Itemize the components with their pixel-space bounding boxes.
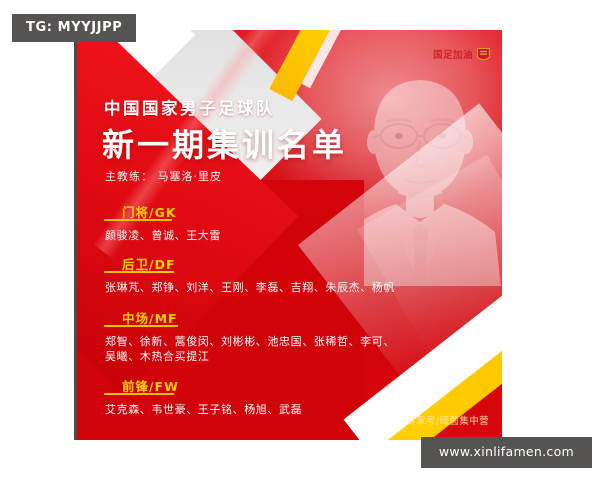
cfa-crest-icon bbox=[477, 48, 490, 63]
group-df-rule bbox=[104, 271, 174, 273]
group-mf: 中场/MF 郑智、徐新、蒿俊闵、刘彬彬、池忠国、张稀哲、李可、 吴曦、木热合买提… bbox=[102, 308, 432, 364]
group-fw-rule bbox=[104, 393, 174, 395]
group-mf-players-line1: 郑智、徐新、蒿俊闵、刘彬彬、池忠国、张稀哲、李可、 bbox=[102, 334, 432, 349]
group-fw-players: 艾克森、韦世豪、王子铭、杨旭、武磊 bbox=[102, 402, 432, 417]
group-mf-players-line2: 吴曦、木热合买提江 bbox=[102, 349, 432, 364]
page-title: 新一期集训名单 bbox=[102, 120, 347, 166]
tg-watermark-tag: TG: MYYJJPP bbox=[12, 14, 136, 42]
group-df-players: 张琳芃、郑铮、刘洋、王刚、李磊、吉翔、朱辰杰、杨帆 bbox=[102, 280, 432, 295]
poster-card: 国足加油 中国国家男子足球队 新一期集训名单 主教练： 马塞洛·里皮 门将/GK… bbox=[74, 30, 502, 440]
team-name: 中国国家男子足球队 bbox=[104, 95, 275, 119]
cfa-badge: 国足加油 bbox=[433, 48, 490, 63]
cfa-badge-label: 国足加油 bbox=[433, 51, 473, 61]
group-gk-rule bbox=[104, 219, 172, 221]
group-fw: 前锋/FW 艾克森、韦世豪、王子铭、杨旭、武磊 bbox=[102, 376, 432, 417]
group-mf-rule bbox=[104, 325, 178, 327]
card-left-edge bbox=[74, 30, 77, 440]
site-watermark: www.xinlifamen.com bbox=[421, 437, 592, 469]
credit-line: 百家号/绿茵集中营 bbox=[406, 413, 489, 427]
coach-line: 主教练： 马塞洛·里皮 bbox=[105, 168, 222, 184]
poster-content: 中国国家男子足球队 新一期集训名单 主教练： 马塞洛·里皮 门将/GK 颜骏凌、… bbox=[102, 30, 432, 440]
group-df: 后卫/DF 张琳芃、郑铮、刘洋、王刚、李磊、吉翔、朱辰杰、杨帆 bbox=[102, 254, 432, 295]
group-gk: 门将/GK 颜骏凌、曾诚、王大雷 bbox=[102, 202, 432, 243]
group-gk-players: 颜骏凌、曾诚、王大雷 bbox=[102, 228, 432, 243]
